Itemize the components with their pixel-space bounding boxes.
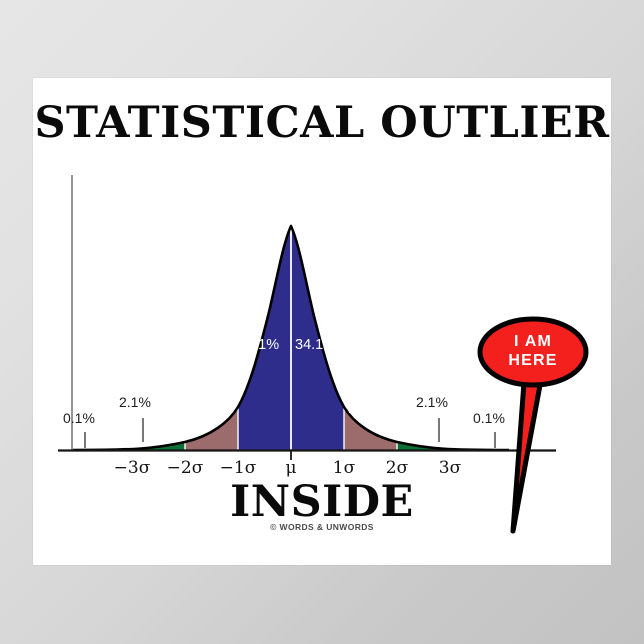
band-left-2-3: [132, 200, 185, 450]
axis-tick-minus-3-sigma: −3σ: [107, 458, 157, 478]
axis-tick-1-sigma: 1σ: [319, 458, 369, 478]
axis-tick-minus-2-sigma: −2σ: [160, 458, 210, 478]
pct-label-right-two: 2.1%: [416, 394, 448, 410]
page-title: STATISTICAL OUTLIER: [33, 102, 611, 145]
distribution-bands: [73, 200, 512, 450]
poster-subtitle: INSIDE: [33, 481, 611, 524]
pct-label-left-main: 34.1%: [238, 337, 279, 353]
band-right-2-3: [397, 200, 450, 450]
pct-label-right-one-three: 13.6%: [348, 401, 389, 417]
pct-label-left-two: 2.1%: [119, 394, 151, 410]
axis-tick-2-sigma: 2σ: [372, 458, 422, 478]
poster-sheet: STATISTICAL OUTLIER: [33, 78, 611, 565]
poster-scene: STATISTICAL OUTLIER: [0, 0, 644, 644]
axis-tick-minus-1-sigma: −1σ: [213, 458, 263, 478]
speech-balloon-callout[interactable]: I AM HERE: [477, 317, 589, 387]
axis-tick-3-sigma: 3σ: [425, 458, 475, 478]
normal-distribution-chart: 0.1% 2.1% 13.6% 34.1% 34.1% 13.6% 2.1% 0…: [33, 160, 611, 470]
poster-credit: © WORDS & UNWORDS: [33, 522, 611, 532]
pct-label-left-one-three: 13.6%: [188, 401, 229, 417]
balloon-bubble: [480, 319, 586, 385]
pct-label-right-main: 34.1%: [295, 337, 336, 353]
pct-label-left-tail: 0.1%: [63, 410, 95, 426]
axis-tick-mu: μ: [266, 458, 316, 478]
